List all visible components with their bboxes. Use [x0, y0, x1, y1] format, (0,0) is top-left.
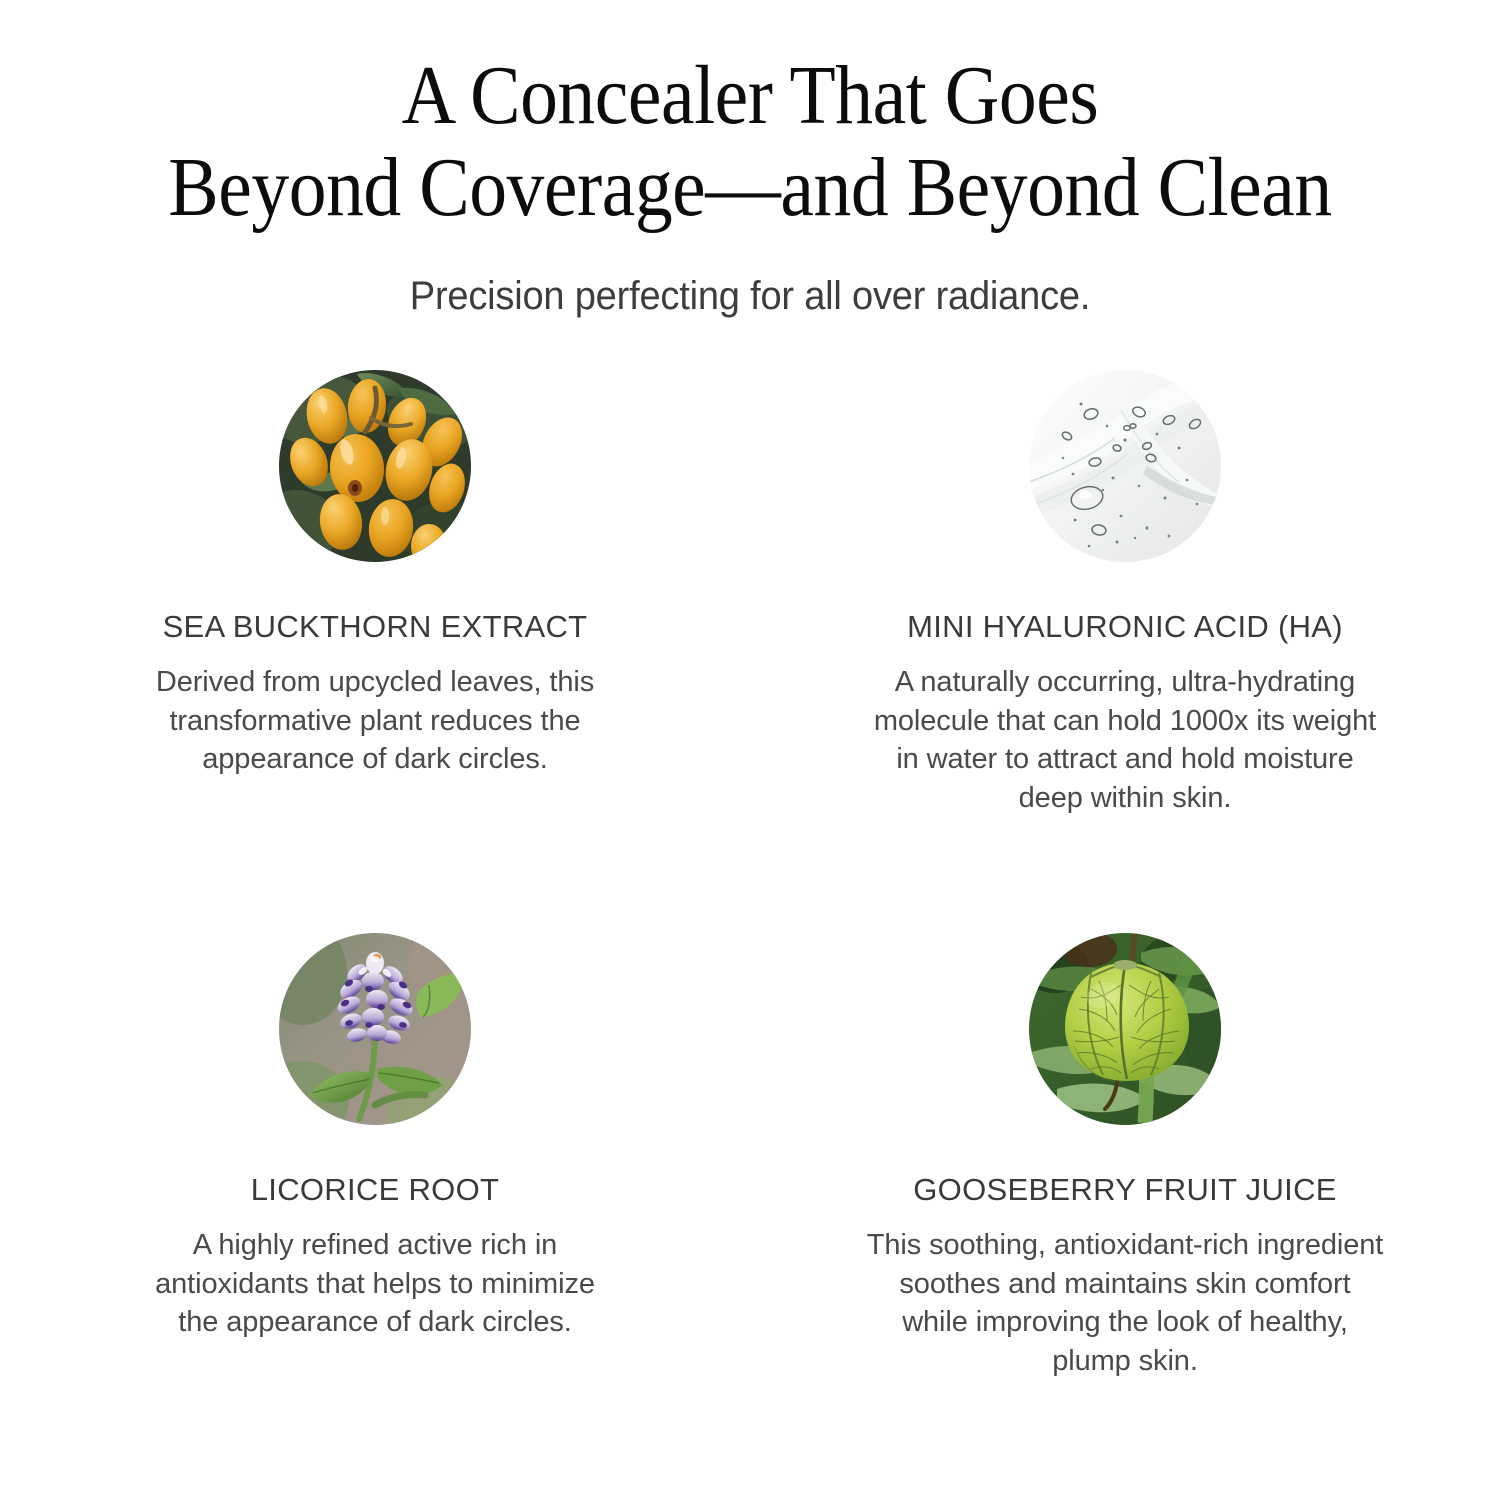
- headline-line-1: A Concealer That Goes: [75, 52, 1425, 140]
- licorice-root-flower-photo: [279, 933, 471, 1125]
- ingredient-card-gooseberry: GOOSEBERRY FRUIT JUICE This soothing, an…: [750, 933, 1500, 1380]
- ingredient-title: GOOSEBERRY FRUIT JUICE: [913, 1172, 1336, 1208]
- description-line: deep within skin.: [874, 779, 1376, 818]
- description-line: the appearance of dark circles.: [155, 1303, 595, 1342]
- ingredient-title: SEA BUCKTHORN EXTRACT: [163, 609, 588, 645]
- ingredient-title: MINI HYALURONIC ACID (HA): [907, 609, 1343, 645]
- hyaluronic-acid-gel-texture-photo: [1029, 370, 1221, 562]
- ingredient-description: This soothing, antioxidant-rich ingredie…: [867, 1226, 1383, 1380]
- description-line: transformative plant reduces the: [156, 702, 594, 741]
- ingredient-card-sea-buckthorn: SEA BUCKTHORN EXTRACT Derived from upcyc…: [0, 370, 750, 817]
- description-line: appearance of dark circles.: [156, 740, 594, 779]
- description-line: A naturally occurring, ultra-hydrating: [874, 663, 1376, 702]
- ingredient-description: Derived from upcycled leaves, this trans…: [156, 663, 594, 779]
- ingredient-grid: SEA BUCKTHORN EXTRACT Derived from upcyc…: [0, 370, 1500, 1381]
- description-line: plump skin.: [867, 1342, 1383, 1381]
- ingredient-description: A highly refined active rich in antioxid…: [155, 1226, 595, 1342]
- ingredient-card-licorice-root: LICORICE ROOT A highly refined active ri…: [0, 933, 750, 1380]
- description-line: soothes and maintains skin comfort: [867, 1265, 1383, 1304]
- ingredient-description: A naturally occurring, ultra-hydrating m…: [874, 663, 1376, 817]
- description-line: A highly refined active rich in: [155, 1226, 595, 1265]
- page-subtitle: Precision perfecting for all over radian…: [38, 274, 1463, 319]
- description-line: in water to attract and hold moisture: [874, 740, 1376, 779]
- headline-line-2: Beyond Coverage—and Beyond Clean: [75, 144, 1425, 232]
- description-line: antioxidants that helps to minimize: [155, 1265, 595, 1304]
- gooseberry-fruit-photo: [1029, 933, 1221, 1125]
- ingredient-card-hyaluronic-acid: MINI HYALURONIC ACID (HA) A naturally oc…: [750, 370, 1500, 817]
- ingredients-infographic: A Concealer That Goes Beyond Coverage—an…: [0, 0, 1500, 1500]
- description-line: molecule that can hold 1000x its weight: [874, 702, 1376, 741]
- ingredient-title: LICORICE ROOT: [251, 1172, 499, 1208]
- sea-buckthorn-berries-photo: [279, 370, 471, 562]
- page-title: A Concealer That Goes Beyond Coverage—an…: [75, 52, 1425, 232]
- description-line: while improving the look of healthy,: [867, 1303, 1383, 1342]
- header: A Concealer That Goes Beyond Coverage—an…: [0, 0, 1500, 319]
- description-line: This soothing, antioxidant-rich ingredie…: [867, 1226, 1383, 1265]
- description-line: Derived from upcycled leaves, this: [156, 663, 594, 702]
